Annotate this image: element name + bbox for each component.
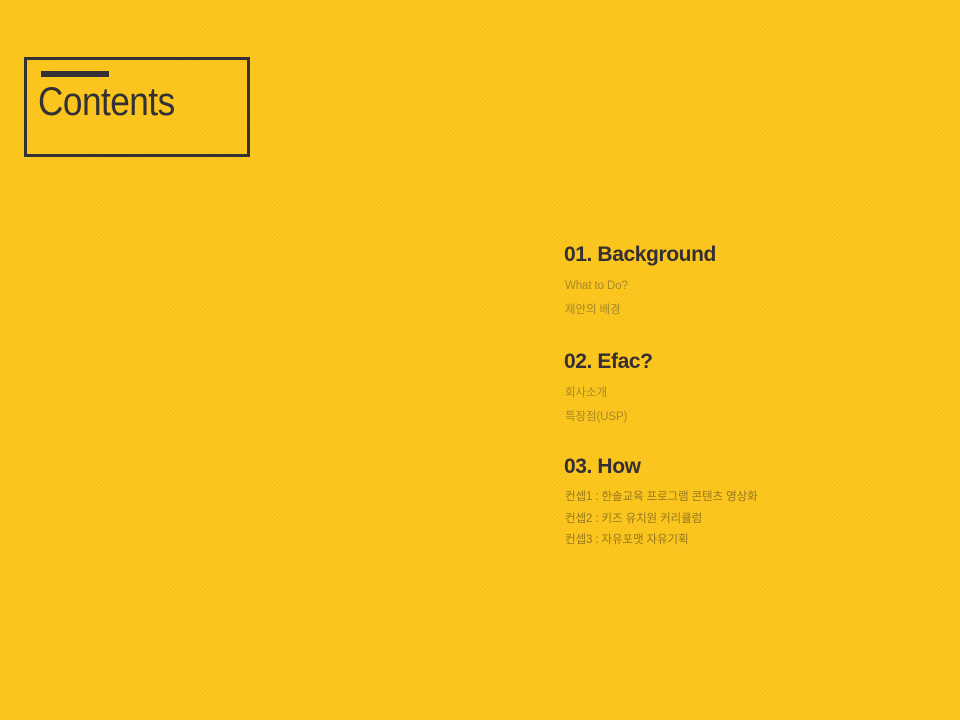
contents-section-background: 01. Background What to Do? 제안의 배경 [564,243,934,316]
slide-canvas: Contents 01. Background What to Do? 제안의 … [0,0,960,720]
section-subitem: 컨셉2 : 키즈 유치원 커리큘럼 [565,514,934,526]
contents-section-how: 03. How 컨셉1 : 한솔교육 프로그램 콘텐츠 영상화 컨셉2 : 키즈… [564,455,934,547]
section-heading-how: 03. How [564,455,934,479]
section-subitem: 컨셉1 : 한솔교육 프로그램 콘텐츠 영상화 [565,492,934,504]
section-subitem: What to Do? [565,281,934,293]
accent-bar-decoration [41,71,109,77]
section-heading-background: 01. Background [564,243,934,267]
section-subitem: 제안의 배경 [565,305,934,317]
section-heading-efac: 02. Efac? [564,350,934,374]
contents-section-efac: 02. Efac? 회사소개 특장점(USP) [564,350,934,423]
section-subitem: 회사소개 [565,388,934,400]
title-box: Contents [24,57,250,157]
contents-list: 01. Background What to Do? 제안의 배경 02. Ef… [564,243,934,557]
section-subitem: 특장점(USP) [565,412,934,424]
section-subitem: 컨셉3 : 자유포맷 자유기획 [565,535,934,547]
page-title: Contents [38,82,175,122]
